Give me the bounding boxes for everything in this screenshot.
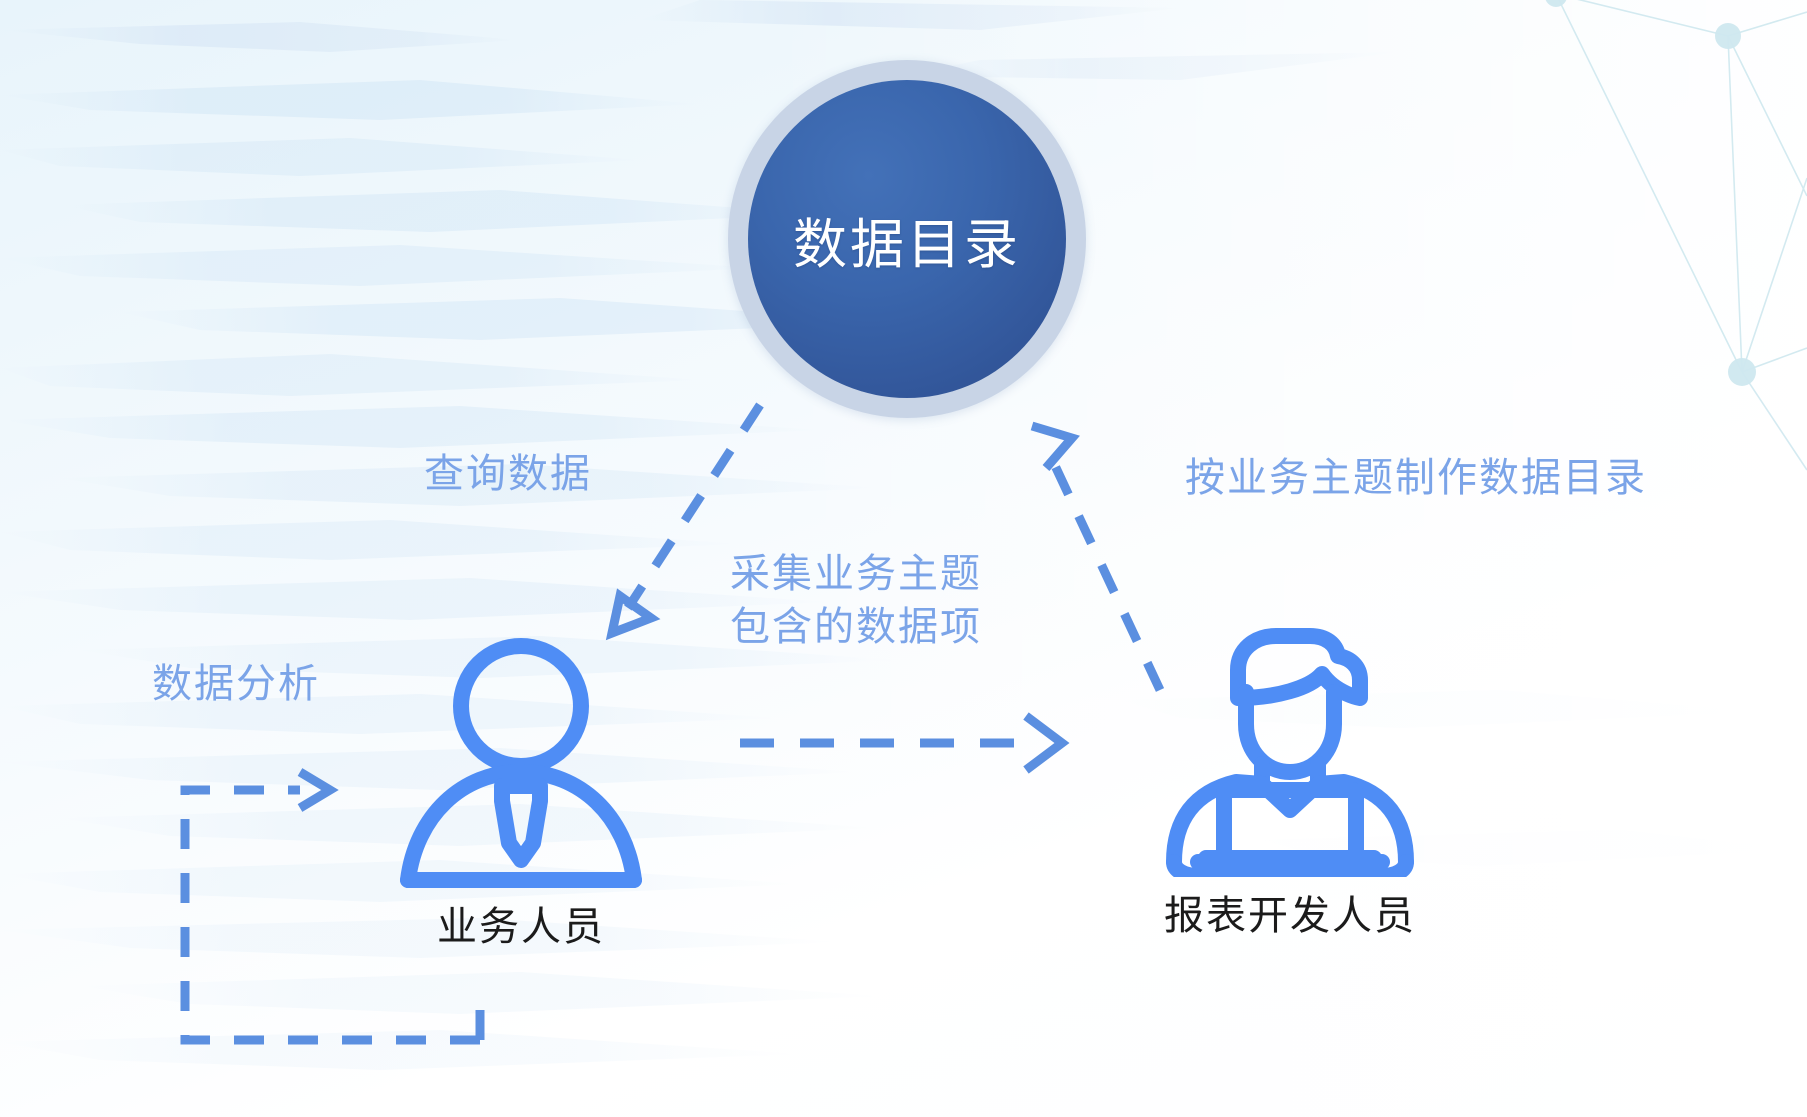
edge-collect-items [740, 716, 1062, 770]
actor-report-developer[interactable]: 报表开发人员 [1150, 612, 1430, 941]
edge-label-collect-items-line2: 包含的数据项 [730, 601, 1030, 654]
edge-label-build-catalog: 按业务主题制作数据目录 [1185, 452, 1647, 505]
actor-business-user-label: 业务人员 [437, 894, 605, 952]
edge-label-query-data: 查询数据 [424, 448, 592, 501]
edge-label-data-analysis: 数据分析 [152, 658, 320, 711]
edge-label-collect-items: 采集业务主题 包含的数据项 [730, 548, 1030, 654]
actor-report-developer-label: 报表开发人员 [1164, 883, 1416, 941]
data-catalog-label: 数据目录 [793, 200, 1021, 279]
data-catalog-node[interactable]: 数据目录 [728, 60, 1086, 418]
edge-label-collect-items-line1: 采集业务主题 [730, 552, 982, 596]
edge-build-catalog [1032, 426, 1160, 690]
actor-business-user[interactable]: 业务人员 [390, 638, 652, 952]
diagram-canvas: 数据目录 查询数据 按业务主题制作数据目录 数据分析 采集业务主题 包含的数据项… [0, 0, 1807, 1117]
developer-laptop-icon [1150, 612, 1430, 877]
user-tie-icon [390, 638, 652, 888]
data-catalog-node-core: 数据目录 [748, 80, 1066, 398]
